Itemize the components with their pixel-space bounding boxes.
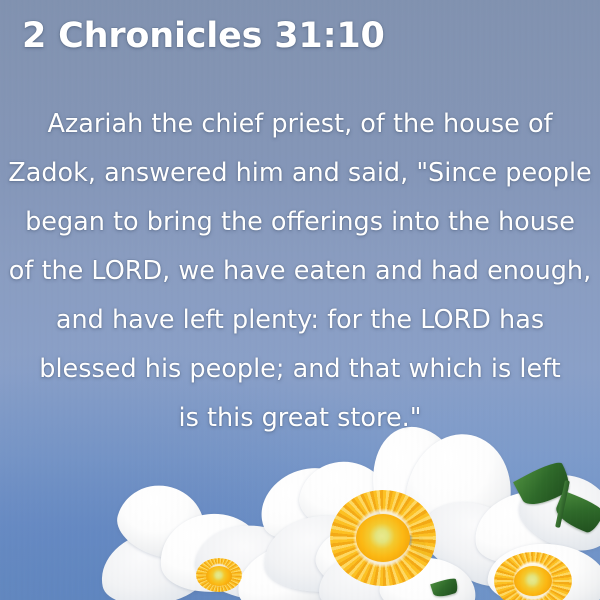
verse-line: Zadok, answered him and said, "Since peo… bbox=[0, 149, 600, 198]
verse-line: of the LORD, we have eaten and had enoug… bbox=[0, 247, 600, 296]
flower-center bbox=[206, 566, 232, 586]
flower-cluster bbox=[0, 440, 600, 600]
page-title: 2 Chronicles 31:10 bbox=[22, 16, 385, 56]
flower-center bbox=[356, 514, 410, 562]
verse-line: is this great store." bbox=[0, 394, 600, 443]
verse-image-card: 2 Chronicles 31:10 Azariah the chief pri… bbox=[0, 0, 600, 600]
flower-center bbox=[514, 566, 552, 596]
verse-line: blessed his people; and that which is le… bbox=[0, 345, 600, 394]
verse-line: and have left plenty: for the LORD has bbox=[0, 296, 600, 345]
verse-line: Azariah the chief priest, of the house o… bbox=[0, 100, 600, 149]
verse-line: began to bring the offerings into the ho… bbox=[0, 198, 600, 247]
verse-text: Azariah the chief priest, of the house o… bbox=[0, 100, 600, 443]
